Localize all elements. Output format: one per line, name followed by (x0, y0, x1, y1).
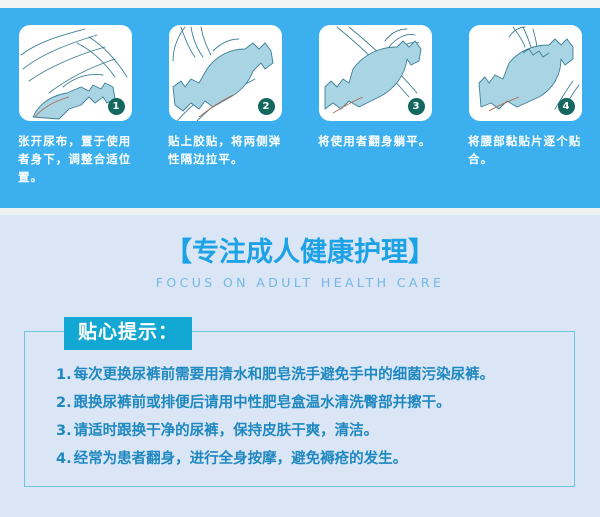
tip-number: 1. (56, 367, 72, 383)
step-2-thumbnail: 2 (169, 25, 282, 121)
section-divider (0, 208, 600, 215)
step-1-thumbnail: 1 (19, 25, 132, 121)
page-subtitle: FOCUS ON ADULT HEALTH CARE (0, 275, 600, 290)
step-1-caption: 张开尿布，置于使用者身下，调整合适位置。 (18, 132, 132, 186)
step-2-badge: 2 (258, 98, 275, 115)
usage-step-1: 1 张开尿布，置于使用者身下，调整合适位置。 (0, 8, 150, 208)
diaper-shape (325, 41, 421, 109)
step-3-caption: 将使用者翻身躺平。 (318, 132, 432, 150)
diaper-shape (33, 83, 115, 119)
list-item: 1.每次更换尿裤前需要用清水和肥皂洗手避免手中的细菌污染尿裤。 (56, 362, 566, 390)
tips-label: 贴心提示： (64, 317, 192, 350)
usage-step-2: 2 贴上胶贴，将两侧弹性隔边拉平。 (150, 8, 300, 208)
step-1-badge: 1 (108, 98, 125, 115)
step-2-caption: 贴上胶贴，将两侧弹性隔边拉平。 (168, 132, 282, 168)
usage-steps-row: 1 张开尿布，置于使用者身下，调整合适位置。 (0, 8, 600, 208)
list-item: 3.请适时跟换干净的尿裤，保持皮肤干爽，清洁。 (56, 418, 566, 446)
top-spacer (0, 0, 600, 8)
list-item: 4.经常为患者翻身，进行全身按摩，避免褥疮的发生。 (56, 446, 566, 474)
tip-text: 每次更换尿裤前需要用清水和肥皂洗手避免手中的细菌污染尿裤。 (74, 367, 495, 383)
list-item: 2.跟换尿裤前或排便后请用中性肥皂盒温水清洗臀部并擦干。 (56, 390, 566, 418)
step-4-badge: 4 (558, 98, 575, 115)
step-4-thumbnail: 4 (469, 25, 582, 121)
tips-list: 1.每次更换尿裤前需要用清水和肥皂洗手避免手中的细菌污染尿裤。 2.跟换尿裤前或… (56, 362, 566, 474)
usage-steps-band: 1 张开尿布，置于使用者身下，调整合适位置。 (0, 8, 600, 208)
headline-block: 【专注成人健康护理】 FOCUS ON ADULT HEALTH CARE (0, 237, 600, 290)
diaper-shape (479, 39, 573, 109)
tip-number: 4. (56, 451, 72, 467)
tip-number: 3. (56, 423, 72, 439)
tip-text: 经常为患者翻身，进行全身按摩，避免褥疮的发生。 (74, 451, 408, 467)
tip-number: 2. (56, 395, 72, 411)
product-instruction-page: 1 张开尿布，置于使用者身下，调整合适位置。 (0, 0, 600, 517)
usage-step-4: 4 将腰部黏贴片逐个贴合。 (450, 8, 600, 208)
step-4-caption: 将腰部黏贴片逐个贴合。 (468, 132, 582, 168)
step-3-thumbnail: 3 (319, 25, 432, 121)
tip-text: 请适时跟换干净的尿裤，保持皮肤干爽，清洁。 (74, 423, 379, 439)
usage-step-3: 3 将使用者翻身躺平。 (300, 8, 450, 208)
step-3-badge: 3 (408, 98, 425, 115)
tip-text: 跟换尿裤前或排便后请用中性肥皂盒温水清洗臀部并擦干。 (74, 395, 451, 411)
page-title: 【专注成人健康护理】 (0, 237, 600, 268)
